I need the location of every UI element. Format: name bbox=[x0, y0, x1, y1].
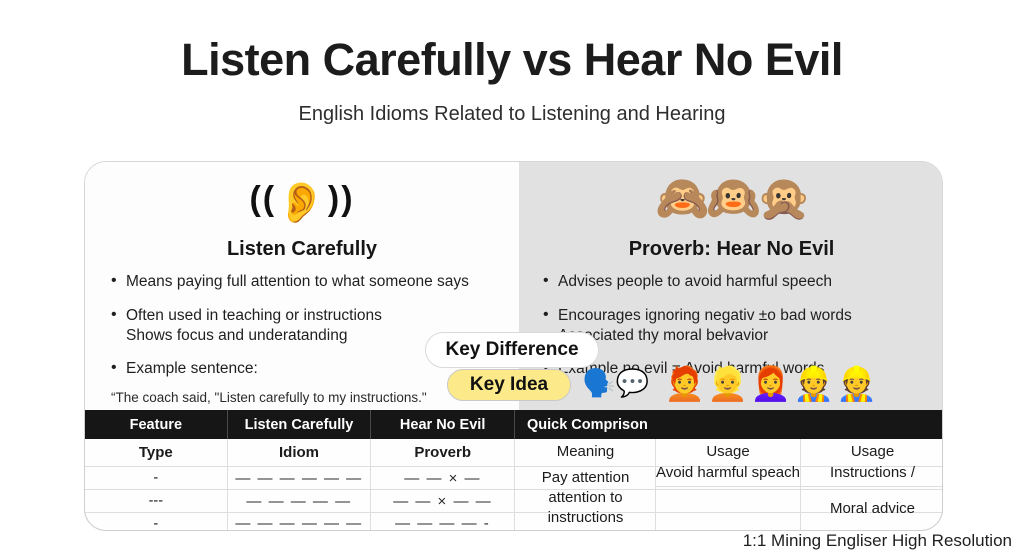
qc-usage1-body: Avoid harmful speach bbox=[656, 463, 800, 483]
page-title: Listen Carefully vs Hear No Evil bbox=[0, 34, 1024, 86]
cell-feature: --- bbox=[85, 490, 228, 512]
slide-canvas: Listen Carefully vs Hear No Evil English… bbox=[0, 0, 1024, 559]
quick-comparison-block: Meaning Pay attention attention to instr… bbox=[516, 439, 943, 531]
qc-usage1-group: Usage Avoid harmful speach bbox=[656, 439, 800, 487]
qc-meaning-title: Meaning bbox=[516, 439, 655, 465]
cell-hear: Proverb bbox=[371, 439, 515, 466]
bullet-subtext: Associated thy moral bełvavior bbox=[558, 326, 941, 346]
table-header-quick-comparison: Quick Comprison bbox=[515, 410, 942, 439]
page-subtitle: English Idioms Related to Listening and … bbox=[0, 103, 1024, 126]
list-item: Means paying full attention to what some… bbox=[109, 272, 513, 292]
cell-listen: — — — — — — bbox=[228, 513, 372, 531]
cell-hear: — — × — bbox=[371, 467, 515, 489]
table-header-listen: Listen Carefully bbox=[228, 410, 372, 439]
bullet-text: Example sentence: bbox=[126, 360, 258, 377]
table-header-row: Feature Listen Carefully Hear No Evil Qu… bbox=[85, 410, 942, 439]
sound-wave-left-icon: (( bbox=[249, 180, 276, 218]
ear-glyph: 👂 bbox=[276, 181, 328, 225]
footer-caption: 1:1 Mining Engliser High Resolution bbox=[743, 531, 1012, 551]
comparison-table: Feature Listen Carefully Hear No Evil Qu… bbox=[84, 410, 943, 531]
bullet-text: Advises people to avoid harmful speech bbox=[558, 273, 832, 290]
qc-meaning-body: Pay attention attention to instructions bbox=[516, 465, 655, 531]
qc-usage1-empty bbox=[656, 487, 800, 531]
qc-usage2-title: Usage bbox=[851, 442, 894, 462]
qc-column-meaning: Meaning Pay attention attention to instr… bbox=[516, 439, 656, 531]
sound-wave-right-icon: )) bbox=[328, 180, 355, 218]
cell-feature: Type bbox=[85, 439, 228, 466]
key-idea-badge[interactable]: Key Idea bbox=[447, 369, 571, 401]
bullet-text: Encourages ignoring negativ ±o bad words bbox=[558, 307, 852, 324]
qc-column-usage-1: Usage Avoid harmful speach bbox=[656, 439, 801, 531]
bullet-text: Means paying full attention to what some… bbox=[126, 273, 469, 290]
panel-right-heading: Proverb: Hear No Evil bbox=[519, 238, 943, 261]
cell-listen: — — — — — bbox=[228, 490, 372, 512]
cell-hear: — — × — — bbox=[371, 490, 515, 512]
cell-feature: - bbox=[85, 513, 228, 531]
three-wise-monkeys-icon: 🙈🙉🙊 bbox=[519, 173, 943, 225]
ear-icon: ((👂)) bbox=[85, 173, 519, 229]
panel-left-heading: Listen Carefully bbox=[85, 238, 519, 261]
bullet-text: Often used in teaching or instructions bbox=[126, 307, 382, 324]
table-header-hear: Hear No Evil bbox=[371, 410, 515, 439]
people-group-icon: 🧑‍🦰👱👩‍🦰👷👷 bbox=[664, 366, 879, 402]
cell-listen: — — — — — — bbox=[228, 467, 372, 489]
cell-feature: - bbox=[85, 467, 228, 489]
table-body: Type Idiom Proverb - — — — — — — — — × —… bbox=[85, 439, 942, 531]
list-item: Encourages ignoring negativ ±o bad words… bbox=[541, 306, 941, 346]
cell-listen: Idiom bbox=[228, 439, 372, 466]
person-speech-bubble-icon: 🗣️💬 bbox=[582, 368, 649, 398]
qc-usage2-body2: Moral advice bbox=[801, 487, 943, 531]
qc-usage2-group: Usage Instructions / bbox=[801, 439, 943, 487]
qc-usage2-body: Instructions / bbox=[830, 463, 915, 483]
list-item: Advises people to avoid harmful speech bbox=[541, 272, 941, 292]
key-difference-badge[interactable]: Key Difference bbox=[425, 332, 599, 368]
table-header-feature: Feature bbox=[85, 410, 228, 439]
qc-usage1-title: Usage bbox=[706, 442, 749, 462]
cell-hear: — — — — - bbox=[371, 513, 515, 531]
qc-column-usage-2: Usage Instructions / Moral advice bbox=[801, 439, 943, 531]
